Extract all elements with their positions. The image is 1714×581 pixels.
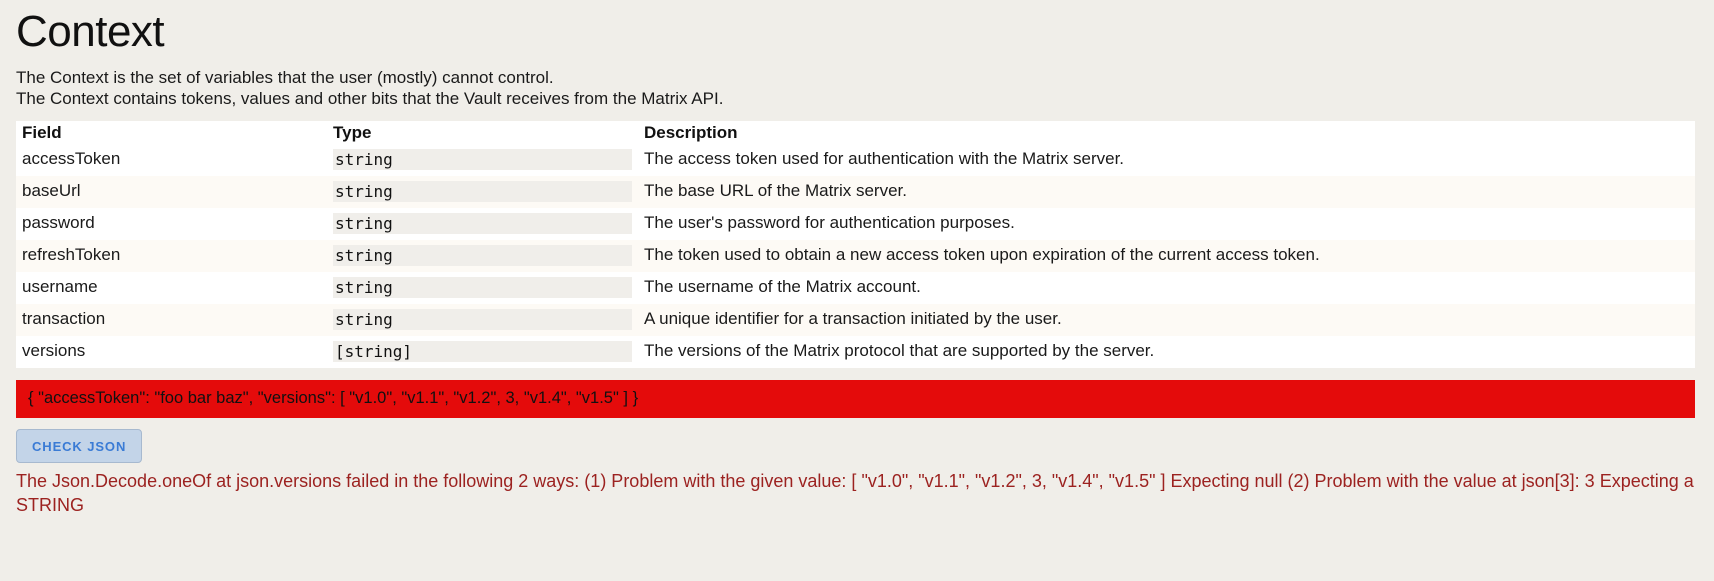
cell-type: string — [327, 304, 638, 336]
table-row: baseUrl string The base URL of the Matri… — [16, 176, 1695, 208]
table-body: accessToken string The access token used… — [16, 144, 1695, 368]
check-json-button[interactable]: CHECK JSON — [16, 429, 142, 463]
cell-description: A unique identifier for a transaction in… — [638, 304, 1695, 336]
context-fields-table: Field Type Description accessToken strin… — [16, 121, 1695, 368]
type-code: string — [333, 149, 632, 170]
table-row: refreshToken string The token used to ob… — [16, 240, 1695, 272]
column-header-description: Description — [638, 121, 1695, 144]
cell-type: string — [327, 144, 638, 176]
cell-description: The username of the Matrix account. — [638, 272, 1695, 304]
cell-field: password — [16, 208, 327, 240]
cell-type: string — [327, 240, 638, 272]
table-row: username string The username of the Matr… — [16, 272, 1695, 304]
intro-line-1: The Context is the set of variables that… — [16, 68, 1698, 89]
cell-field: versions — [16, 336, 327, 368]
json-input-field[interactable]: { "accessToken": "foo bar baz", "version… — [16, 380, 1695, 418]
cell-description: The user's password for authentication p… — [638, 208, 1695, 240]
cell-field: accessToken — [16, 144, 327, 176]
cell-type: [string] — [327, 336, 638, 368]
type-code: string — [333, 309, 632, 330]
type-code: string — [333, 245, 632, 266]
cell-description: The base URL of the Matrix server. — [638, 176, 1695, 208]
cell-type: string — [327, 176, 638, 208]
cell-type: string — [327, 208, 638, 240]
page-title: Context — [16, 10, 1698, 54]
cell-field: baseUrl — [16, 176, 327, 208]
cell-field: transaction — [16, 304, 327, 336]
table-row: accessToken string The access token used… — [16, 144, 1695, 176]
column-header-field: Field — [16, 121, 327, 144]
type-code: string — [333, 277, 632, 298]
cell-type: string — [327, 272, 638, 304]
cell-description: The token used to obtain a new access to… — [638, 240, 1695, 272]
table-header: Field Type Description — [16, 121, 1695, 144]
table-header-row: Field Type Description — [16, 121, 1695, 144]
page-root: Context The Context is the set of variab… — [0, 10, 1714, 517]
cell-description: The versions of the Matrix protocol that… — [638, 336, 1695, 368]
decode-error-message: The Json.Decode.oneOf at json.versions f… — [16, 470, 1698, 517]
column-header-type: Type — [327, 121, 638, 144]
type-code: [string] — [333, 341, 632, 362]
type-code: string — [333, 181, 632, 202]
table-row: transaction string A unique identifier f… — [16, 304, 1695, 336]
table-row: versions [string] The versions of the Ma… — [16, 336, 1695, 368]
cell-field: username — [16, 272, 327, 304]
cell-field: refreshToken — [16, 240, 327, 272]
cell-description: The access token used for authentication… — [638, 144, 1695, 176]
table-row: password string The user's password for … — [16, 208, 1695, 240]
type-code: string — [333, 213, 632, 234]
intro-line-2: The Context contains tokens, values and … — [16, 89, 1698, 110]
